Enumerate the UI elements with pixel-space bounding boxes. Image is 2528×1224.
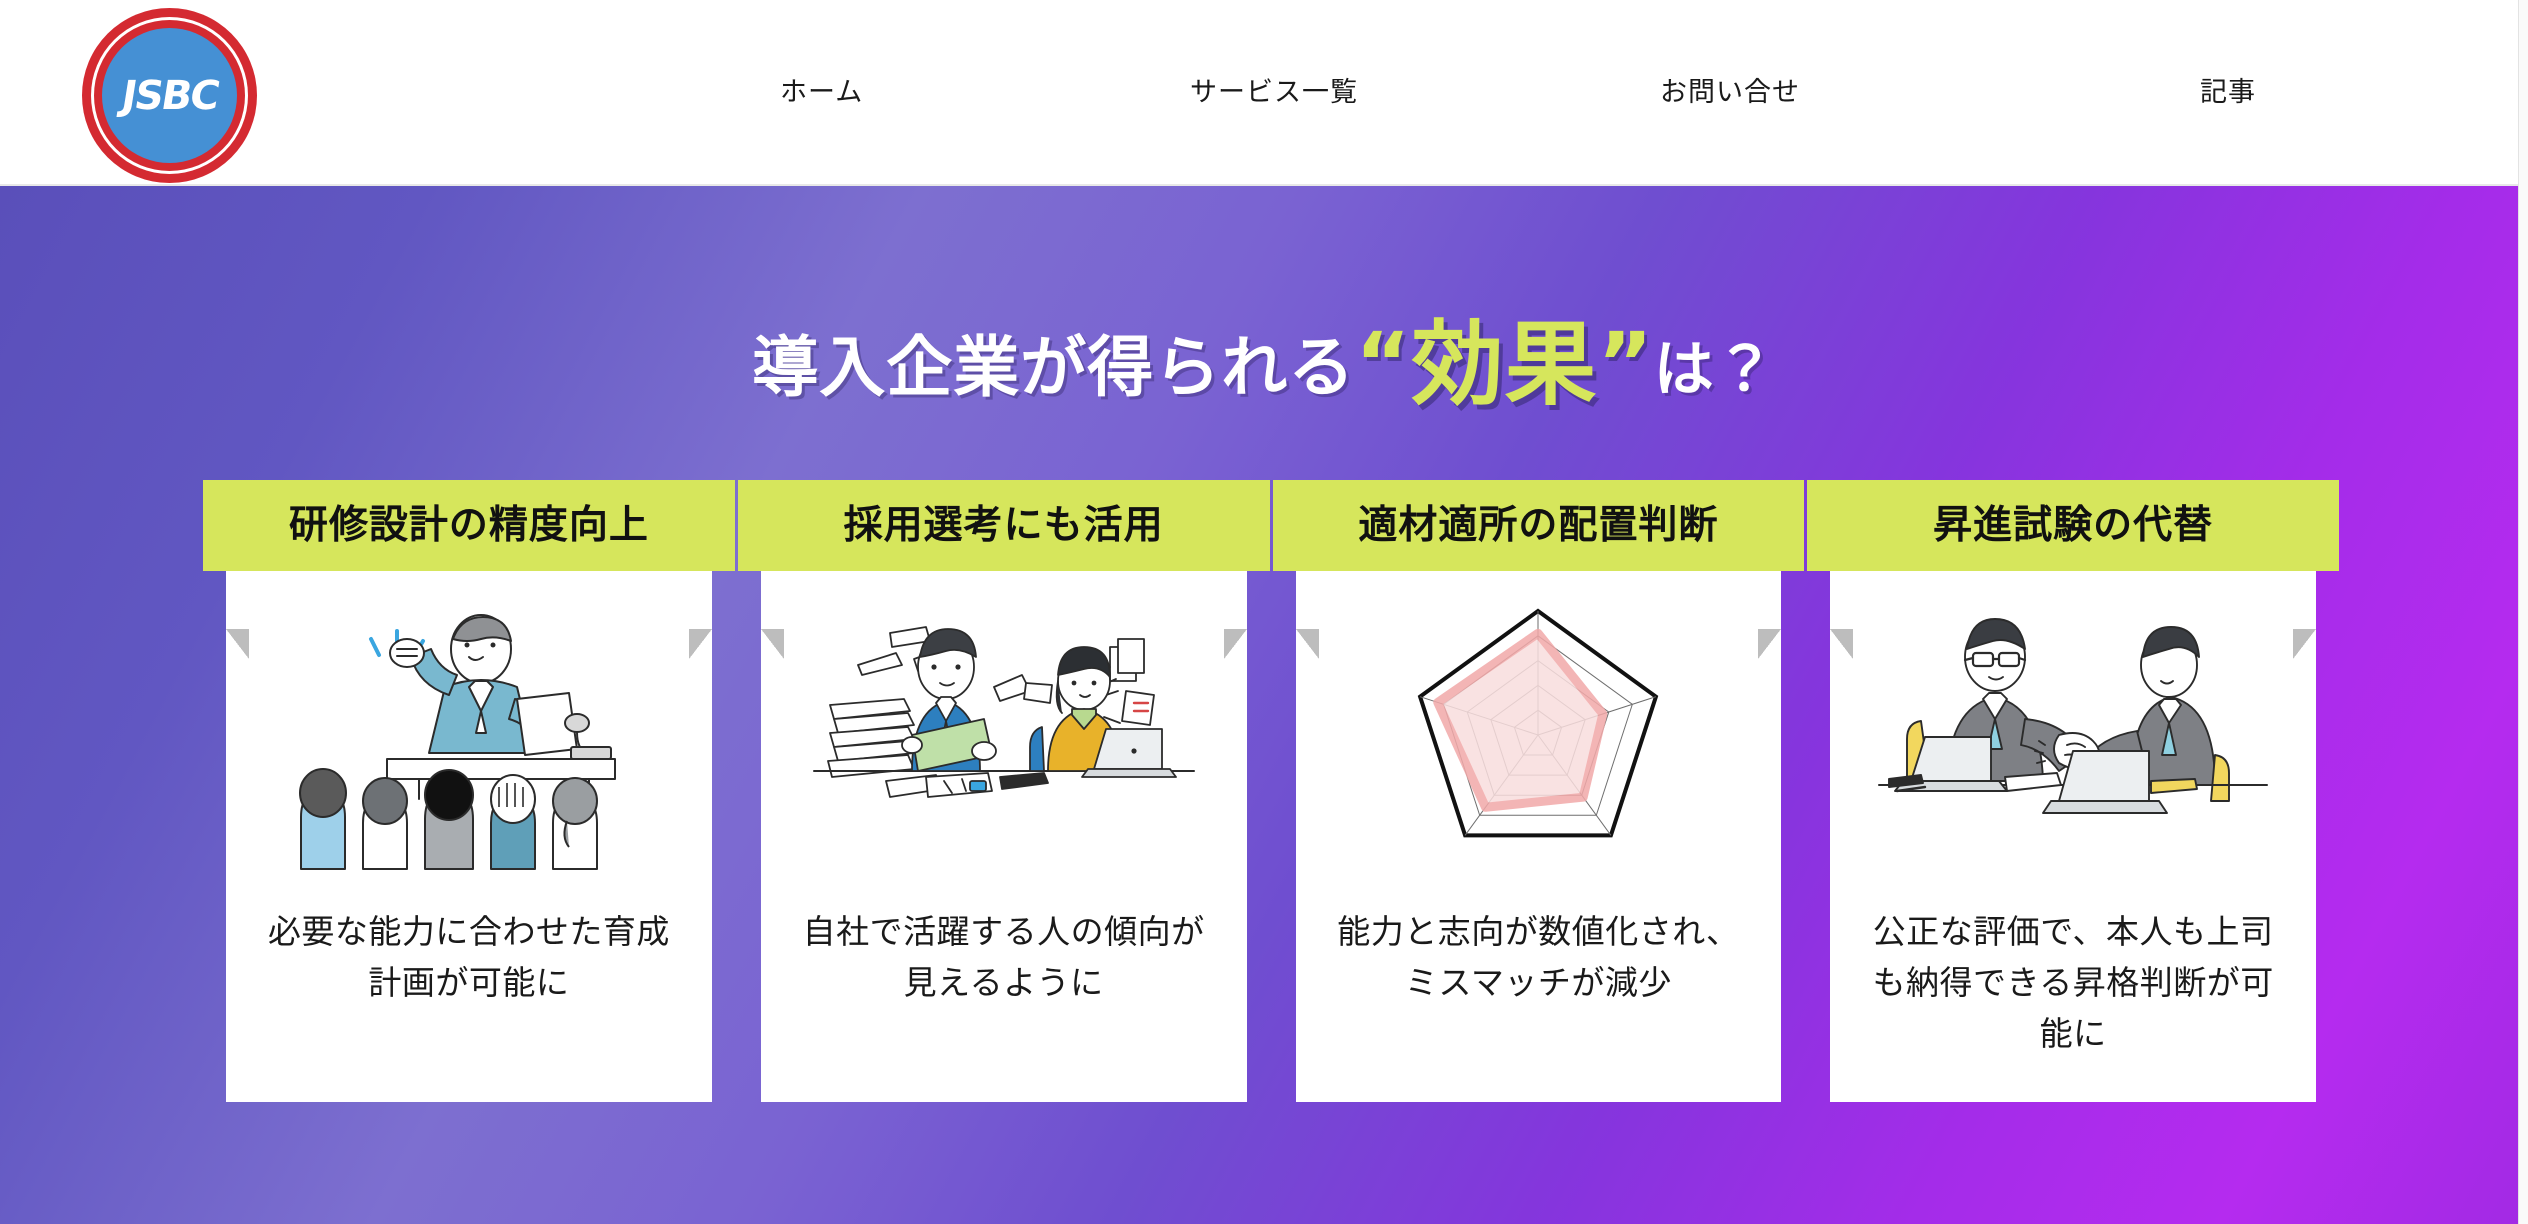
card-title-ribbon: 研修設計の精度向上 — [203, 480, 735, 571]
benefit-card[interactable]: 研修設計の精度向上 — [226, 538, 712, 1102]
page-title-highlight: 効果 — [1411, 311, 1597, 418]
handshake-meeting-illustration — [1830, 590, 2316, 880]
card-caption: 公正な評価で、本人も上司も納得できる昇格判断が可能に — [1858, 906, 2288, 1059]
site-header: JSBC ホーム サービス一覧 お問い合せ 記事 — [0, 0, 2528, 186]
main-navigation: ホーム サービス一覧 お問い合せ 記事 — [700, 0, 2460, 184]
card-caption: 能力と志向が数値化され、ミスマッチが減少 — [1324, 906, 1754, 1008]
radar-series-polygon — [1438, 633, 1603, 807]
nav-item-services[interactable]: サービス一覧 — [1040, 79, 1450, 106]
card-caption: 自社で活躍する人の傾向が見えるように — [789, 906, 1219, 1008]
card-title-ribbon: 昇進試験の代替 — [1807, 480, 2339, 571]
card-title-ribbon: 採用選考にも活用 — [738, 480, 1270, 571]
card-title: 採用選考にも活用 — [844, 506, 1164, 545]
logo-disc: JSBC — [102, 28, 237, 163]
benefit-card-list: 研修設計の精度向上 — [226, 538, 2316, 1118]
card-caption: 必要な能力に合わせた育成計画が可能に — [254, 906, 684, 1008]
seminar-presenter-illustration — [226, 590, 712, 880]
page-title: 導入企業が得られる“効果”は？ — [0, 310, 2528, 420]
card-title-ribbon: 適材適所の配置判断 — [1273, 480, 1805, 571]
logo-text: JSBC — [119, 76, 221, 116]
page-title-quote-close: ” — [1598, 314, 1654, 412]
ribbon-fold-right — [1758, 629, 1781, 659]
page-title-suffix: は？ — [1654, 335, 1776, 405]
nav-item-contact[interactable]: お問い合せ — [1450, 79, 1920, 106]
ribbon-fold-right — [689, 629, 712, 659]
nav-item-articles[interactable]: 記事 — [1920, 79, 2460, 106]
site-logo[interactable]: JSBC — [82, 8, 257, 183]
hero-section: 導入企業が得られる“効果”は？ 研修設計の精度向上 — [0, 186, 2528, 1224]
ribbon-fold-left — [226, 629, 249, 659]
card-title: 昇進試験の代替 — [1933, 506, 2213, 545]
ribbon-fold-left — [761, 629, 784, 659]
ribbon-fold-right — [1224, 629, 1247, 659]
ribbon-fold-left — [1296, 629, 1319, 659]
ribbon-fold-left — [1830, 629, 1853, 659]
nav-item-home[interactable]: ホーム — [700, 79, 1040, 106]
pentagon-radar-chart — [1296, 590, 1782, 880]
benefit-card[interactable]: 昇進試験の代替 — [1830, 538, 2316, 1102]
card-title: 適材適所の配置判断 — [1358, 506, 1718, 545]
benefit-card[interactable]: 採用選考にも活用 — [761, 538, 1247, 1102]
page-title-prefix: 導入企業が得られる — [752, 329, 1355, 406]
card-title: 研修設計の精度向上 — [289, 506, 649, 545]
page-scrollbar[interactable] — [2518, 0, 2528, 1224]
benefit-card[interactable]: 適材適所の配置判断 能力と志向が数値化され、ミスマッチが減少 — [1296, 538, 1782, 1102]
ribbon-fold-right — [2293, 629, 2316, 659]
office-workers-paperwork-illustration — [761, 590, 1247, 880]
page-root: JSBC ホーム サービス一覧 お問い合せ 記事 導入企業が得られる“効果”は？… — [0, 0, 2528, 1224]
page-title-quote-open: “ — [1355, 314, 1411, 412]
